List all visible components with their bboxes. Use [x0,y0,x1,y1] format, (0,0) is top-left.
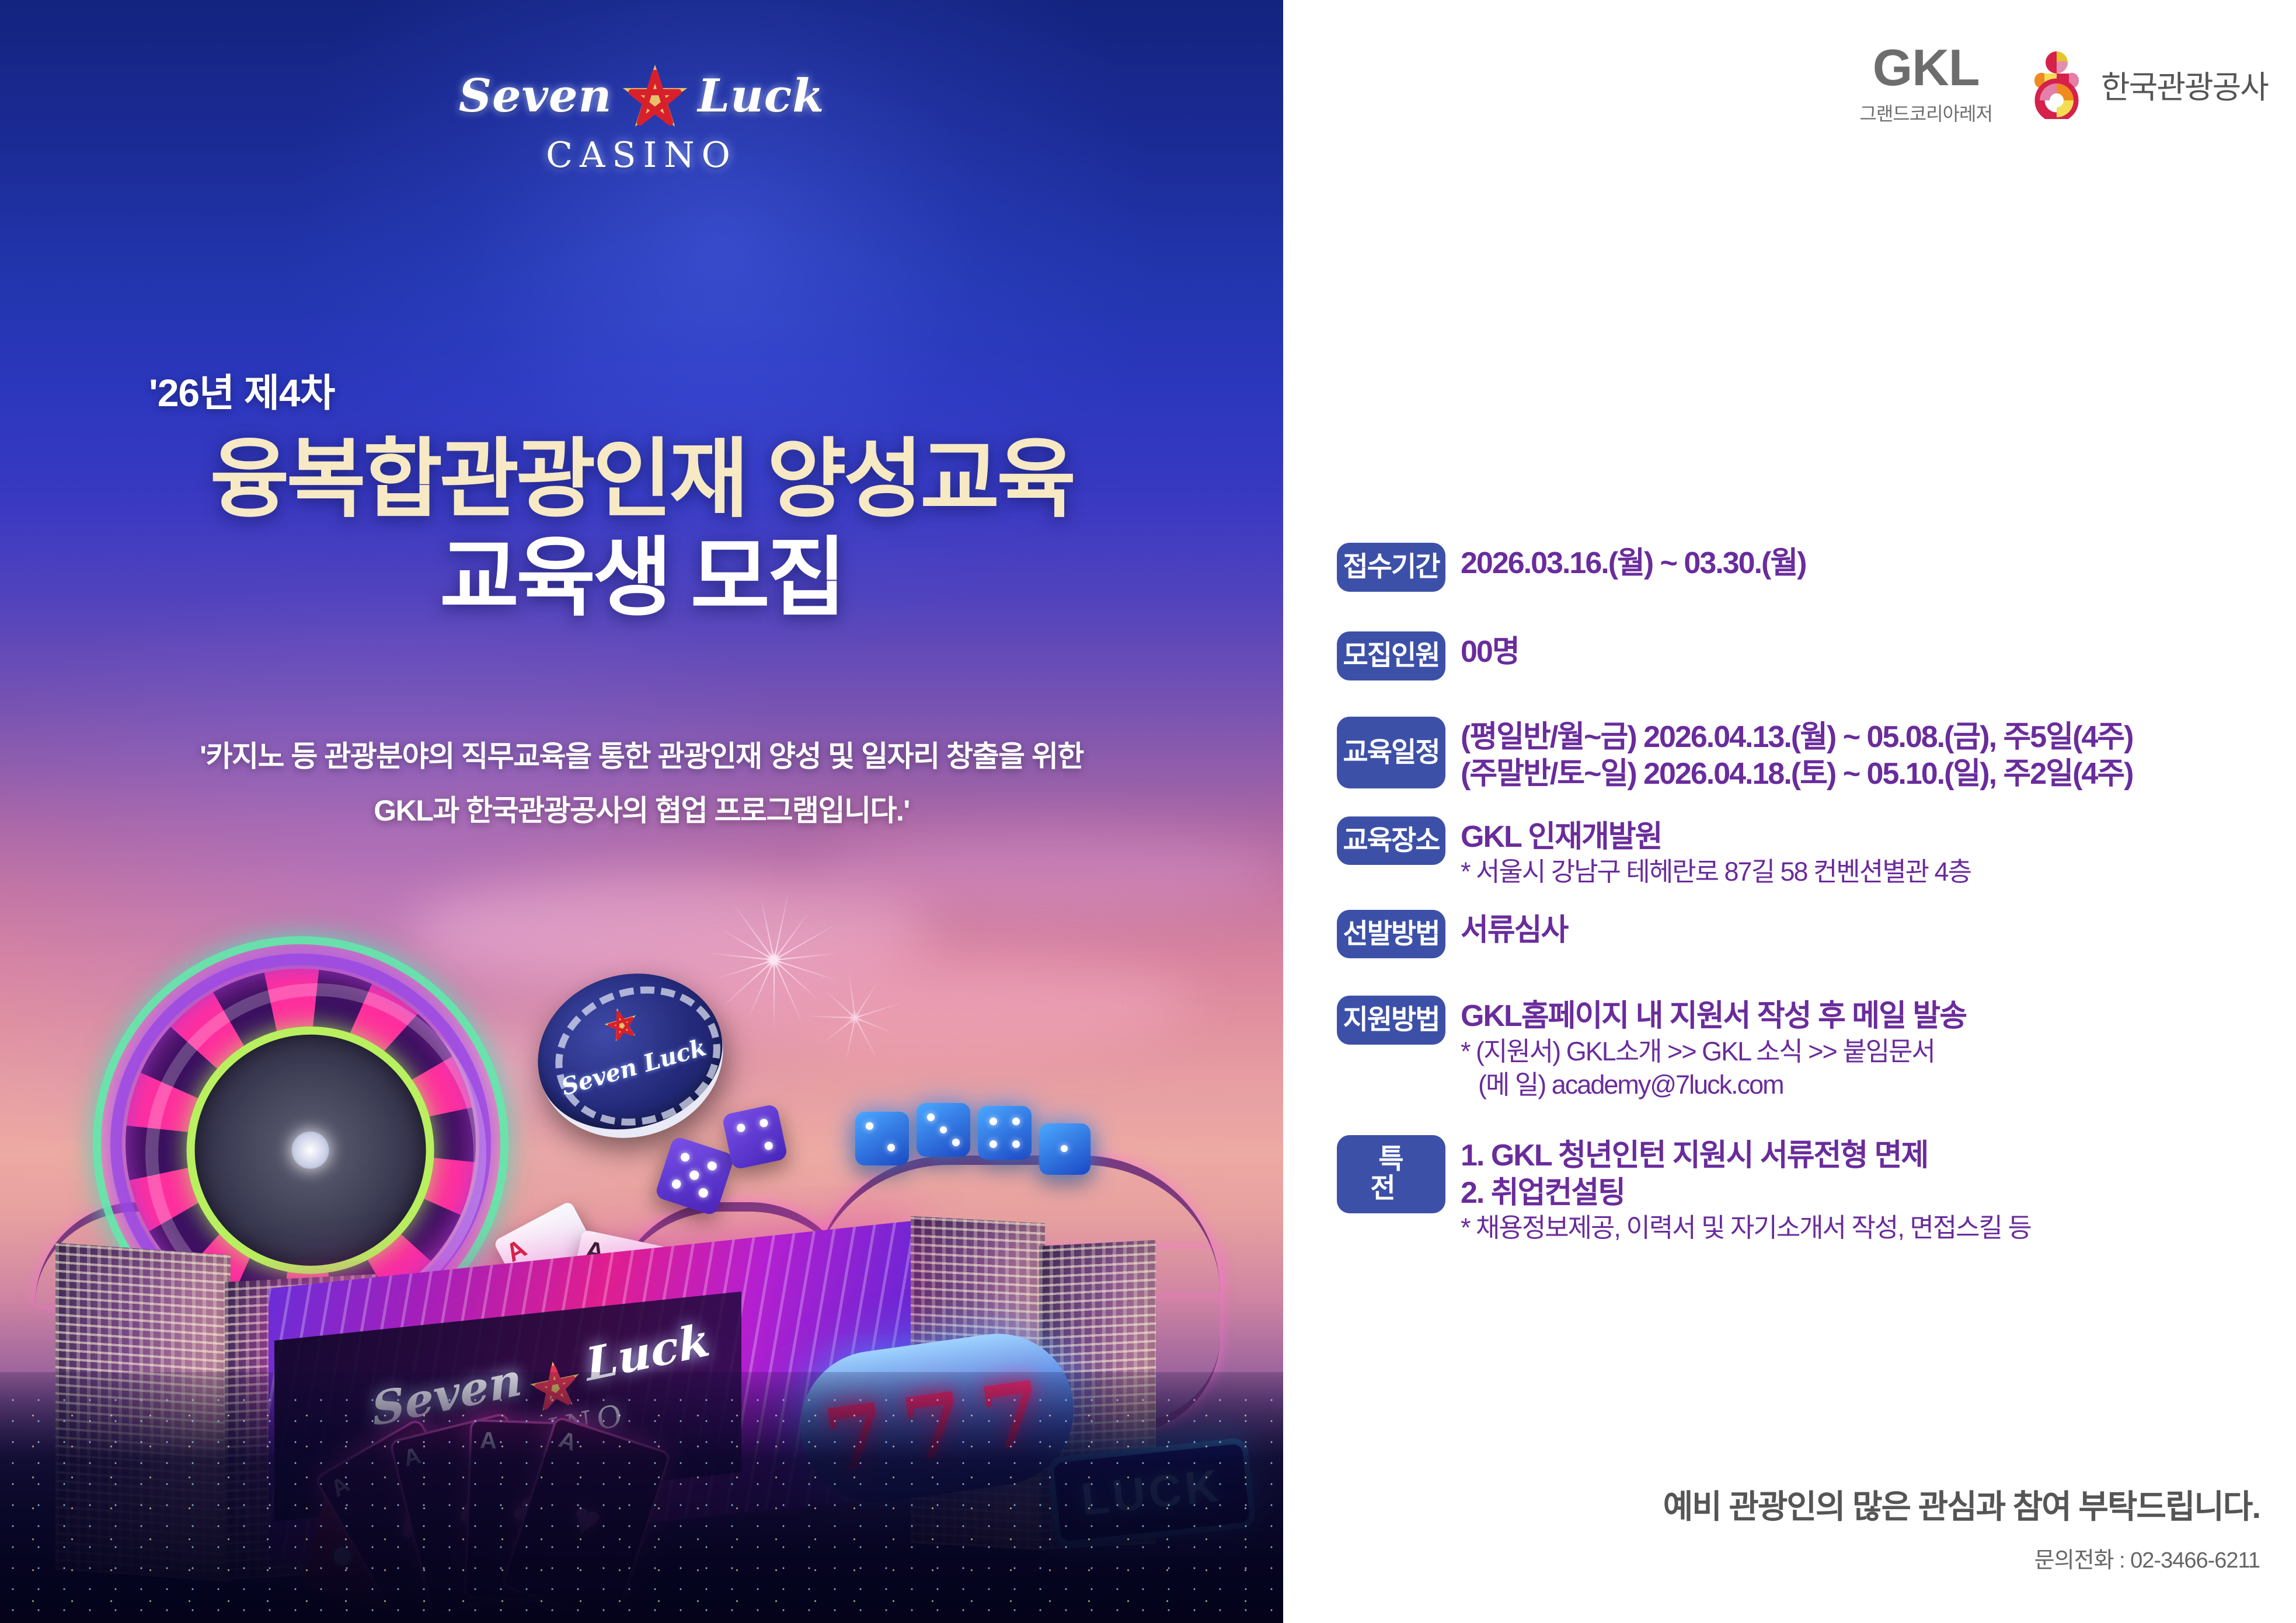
spacer [1337,592,2283,631]
luck-neon-sign: LUCK [1047,1437,1256,1548]
info-value: 서류심사 [1461,912,1567,949]
info-values: 서류심사 [1461,910,1567,949]
info-value-note: * (지원서) GKL소개 >> GKL 소식 >> 붙임문서 [1461,1035,1966,1069]
cloud-decor [671,957,1197,1050]
info-values: (평일반/월~금) 2026.04.13.(월) ~ 05.08.(금), 주5… [1461,717,2133,793]
info-row-location: 교육장소 GKL 인재개발원 * 서울시 강남구 테헤란로 87길 58 컨벤션… [1337,816,2283,889]
casino-signage: Seven Luck CASINO [370,1314,717,1484]
logo-subtitle-casino: CASINO [0,135,1283,176]
spacer [1337,680,2283,717]
info-value: GKL홈페이지 내 지원서 작성 후 메일 발송 [1461,998,1966,1035]
playing-card-icon: A ♣ [558,1230,668,1368]
info-row-selection-method: 선발방법 서류심사 [1337,910,2283,959]
info-label: 선발방법 [1337,910,1445,959]
right-info-panel: GKL 그랜드코리아레저 [1283,0,2296,1623]
playing-card-icon: A♠ [313,1418,508,1623]
info-values: 00명 [1461,631,1519,671]
info-value: 2. 취업컨설팅 [1461,1175,2031,1212]
slot-symbol: 7 [818,1384,893,1494]
korea-tourism-organization-mark-icon [2025,49,2088,119]
spacer [1337,889,2283,910]
hotel-tower [55,1243,231,1582]
spacer [1337,1101,2283,1135]
dice-icon [302,1463,458,1619]
cloud-decor [152,1027,560,1115]
kto-logo-text: 한국관광공사 [2101,61,2268,107]
roller-coaster-rail [811,1156,1220,1293]
headline-line-2: 교육생 모집 [0,529,1283,628]
info-row-recruit-count: 모집인원 00명 [1337,631,2283,680]
led-facade [269,1221,911,1563]
info-value-email: (메 일) academy@7luck.com [1461,1069,1966,1102]
top-glow [283,0,1158,680]
spacer [1337,958,2283,996]
gkl-logo: GKL 그랜드코리아레저 [1859,42,1992,126]
slot-machine-icon: 7 7 7 [790,1324,1083,1513]
playing-card-icon: A ♦ [493,1200,628,1350]
dice-icon [855,1112,909,1165]
info-value: (주말반/토~일) 2026.04.18.(토) ~ 05.10.(일), 주2… [1461,756,2133,793]
gkl-logo-subtext: 그랜드코리아레저 [1859,99,1992,126]
info-value: 2026.03.16.(월) ~ 03.30.(월) [1461,545,1806,582]
info-label: 교육장소 [1337,816,1445,865]
headline-line-1: 융복합관광인재 양성교육 [0,431,1283,529]
info-row-schedule: 교육일정 (평일반/월~금) 2026.04.13.(월) ~ 05.08.(금… [1337,717,2283,793]
seven-luck-casino-logo: Seven Luck CASINO [0,61,1283,176]
playing-card-icon: A♣ [464,1419,592,1603]
logo-word-luck: Luck [698,69,824,123]
night-city-skyline [0,1372,1283,1623]
info-values: GKL 인재개발원 * 서울시 강남구 테헤란로 87길 58 컨벤션별관 4층 [1461,816,1971,889]
dice-icon [654,1136,736,1217]
hotel-tower [1039,1240,1156,1549]
subtitle-block: '카지노 등 관광분야의 직무교육을 통한 관광인재 양성 및 일자리 창출을 … [0,730,1283,837]
firework-icon [771,957,776,963]
info-label: 모집인원 [1337,631,1445,680]
hotel-tower [911,1216,1045,1550]
info-list: 접수기간 2026.03.16.(월) ~ 03.30.(월) 모집인원 00명… [1337,543,2283,1245]
city-lights [0,1390,1283,1623]
info-values: 2026.03.16.(월) ~ 03.30.(월) [1461,543,1806,582]
info-label: 교육일정 [1337,717,1445,789]
info-value: GKL 인재개발원 [1461,819,1971,856]
subtitle-line-2: GKL과 한국관광공사의 협업 프로그램입니다.' [0,784,1283,838]
info-label: 특 전 [1337,1135,1445,1213]
info-row-application-period: 접수기간 2026.03.16.(월) ~ 03.30.(월) [1337,543,2283,592]
roller-coaster-rail [1027,1249,1220,1433]
subtitle-line-1: '카지노 등 관광분야의 직무교육을 통한 관광인재 양성 및 일자리 창출을 … [0,730,1283,784]
slot-symbol: 7 [974,1362,1049,1472]
slot-symbol: 7 [896,1373,971,1483]
roulette-wheel-icon [93,936,508,1352]
info-value-note: * 채용정보제공, 이력서 및 자기소개서 작성, 면접스킬 등 [1461,1212,2031,1245]
footer-contact: 문의전화 : 02-3466-6211 [1663,1542,2260,1574]
star-icon [621,62,689,131]
poker-chip-icon: Seven Luck [518,952,743,1159]
star-icon [600,1002,643,1045]
mid-glow [0,552,922,1252]
gkl-logo-text: GKL [1859,42,1992,93]
hotel-tower [225,1274,377,1580]
dice-icon [722,1104,788,1170]
playing-card-icon: A♥ [501,1415,672,1623]
info-value: 00명 [1461,634,1519,671]
info-label: 지원방법 [1337,996,1445,1045]
info-row-benefits: 특 전 1. GKL 청년인턴 지원시 서류전형 면제 2. 취업컨설팅 * 채… [1337,1135,2283,1245]
spacer [1337,793,2283,816]
dice-icon [917,1103,970,1157]
left-visual-panel: Seven Luck CASINO '26년 제4차 융복합관광인재 양성교육 … [0,0,1283,1623]
star-icon [527,1354,584,1416]
poster-root: Seven Luck CASINO '26년 제4차 융복합관광인재 양성교육 … [0,0,2296,1623]
cloud-decor [817,829,1283,916]
roller-coaster-rail [613,1202,858,1311]
luck-sign-label: LUCK [1079,1460,1224,1526]
partner-logos: GKL 그랜드코리아레저 [1859,42,2268,126]
headline-kicker: '26년 제4차 [149,362,1283,418]
cloud-decor [409,875,934,986]
info-values: GKL홈페이지 내 지원서 작성 후 메일 발송 * (지원서) GKL소개 >… [1461,996,1966,1101]
signage-panel [274,1292,741,1521]
playing-card-icon: A♦ [389,1412,550,1615]
info-value: (평일반/월~금) 2026.04.13.(월) ~ 05.08.(금), 주5… [1461,719,2133,756]
footer-message: 예비 관광인의 많은 관심과 참여 부탁드립니다. [1663,1481,2260,1528]
signage-word-seven: Seven [370,1353,525,1436]
logo-word-seven: Seven [459,69,612,123]
dice-icon [1039,1123,1090,1175]
info-values: 1. GKL 청년인턴 지원시 서류전형 면제 2. 취업컨설팅 * 채용정보제… [1461,1135,2031,1245]
roller-coaster-rail [35,1202,245,1305]
signage-subtitle: CASINO [376,1378,717,1484]
casino-illustration: Seven Luck A ♦ A ♣ [0,0,1283,1623]
chip-label: Seven Luck [540,1028,727,1106]
seven-luck-wordmark: Seven Luck [459,61,825,131]
info-row-how-to-apply: 지원방법 GKL홈페이지 내 지원서 작성 후 메일 발송 * (지원서) GK… [1337,996,2283,1101]
headline-block: '26년 제4차 융복합관광인재 양성교육 교육생 모집 [0,362,1283,627]
dice-icon [978,1106,1032,1160]
info-value: 1. GKL 청년인턴 지원시 서류전형 면제 [1461,1137,2031,1174]
footer-block: 예비 관광인의 많은 관심과 참여 부탁드립니다. 문의전화 : 02-3466… [1663,1481,2260,1574]
info-label: 접수기간 [1337,543,1445,592]
signage-word-luck: Luck [583,1314,712,1392]
info-value-note: * 서울시 강남구 테헤란로 87길 58 컨벤션별관 4층 [1461,856,1971,889]
firework-icon [852,1015,857,1020]
kto-logo: 한국관광공사 [2025,49,2268,119]
